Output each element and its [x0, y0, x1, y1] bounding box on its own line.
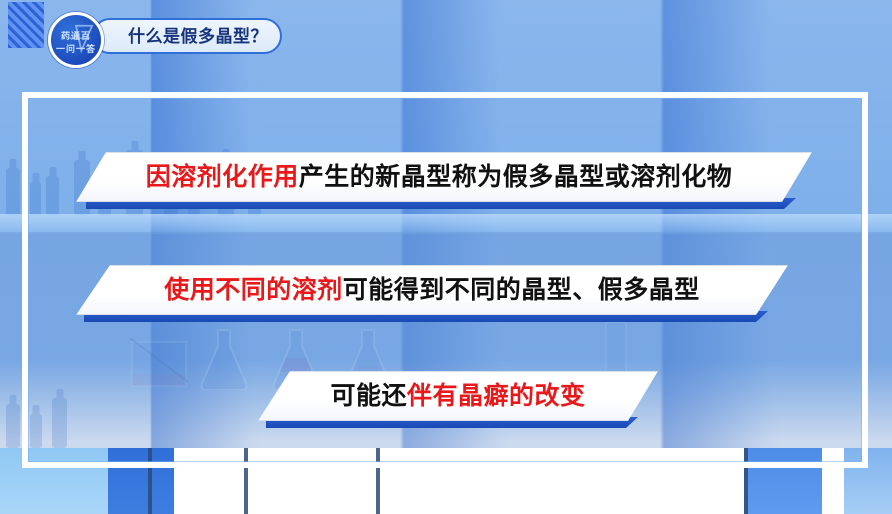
banner-text: 因溶剂化作用产生的新晶型称为假多晶型或溶剂化物	[146, 165, 743, 190]
banner-plate: 可能还伴有晶癖的改变	[258, 371, 658, 421]
table-leg	[744, 448, 748, 514]
banner-text-highlight: 使用不同的溶剂	[164, 276, 343, 304]
banner-text: 可能还伴有晶癖的改变	[330, 384, 585, 409]
banner-text-highlight: 伴有晶癖的改变	[407, 382, 586, 410]
page-title: 什么是假多晶型？	[106, 28, 268, 45]
background-shelf-edge	[0, 214, 892, 234]
background-accent-block-right	[744, 448, 822, 514]
background-accent-block-left	[108, 448, 174, 514]
beaker-silhouette	[128, 338, 190, 390]
statement-banner-3: 可能还伴有晶癖的改变	[258, 371, 658, 421]
banner-text: 使用不同的溶剂可能得到不同的晶型、假多晶型	[164, 278, 700, 303]
background-accent-block-far-right	[844, 448, 892, 514]
banner-text-normal: 可能得到不同的晶型、假多晶型	[343, 276, 700, 304]
table-leg	[376, 448, 380, 514]
flask-silhouette	[196, 328, 252, 390]
program-logo-badge: 药通百 一问一答	[48, 12, 104, 68]
bottle-silhouette	[6, 168, 20, 216]
statement-banner-1: 因溶剂化作用产生的新晶型称为假多晶型或溶剂化物	[76, 152, 812, 202]
logo-text-line-1: 药通百	[56, 32, 96, 41]
banner-text-normal: 可能还	[330, 382, 407, 410]
banner-plate: 因溶剂化作用产生的新晶型称为假多晶型或溶剂化物	[76, 152, 812, 202]
title-pill: 什么是假多晶型？	[92, 18, 282, 54]
corner-stripe-decoration	[8, 2, 44, 48]
bottle-silhouette	[46, 176, 59, 216]
logo-text-line-2: 一问一答	[56, 45, 96, 54]
banner-plate: 使用不同的溶剂可能得到不同的晶型、假多晶型	[76, 265, 788, 315]
table-leg	[244, 448, 248, 514]
table-leg	[148, 448, 152, 514]
banner-text-normal: 产生的新晶型称为假多晶型或溶剂化物	[299, 163, 733, 191]
bottle-silhouette	[30, 182, 41, 216]
video-frame: 什么是假多晶型？ 药通百 一问一答 因溶剂化作用产生的新晶型称为假多晶型或溶剂化…	[0, 0, 892, 514]
statement-banner-2: 使用不同的溶剂可能得到不同的晶型、假多晶型	[76, 265, 788, 315]
banner-text-highlight: 因溶剂化作用	[146, 163, 299, 191]
